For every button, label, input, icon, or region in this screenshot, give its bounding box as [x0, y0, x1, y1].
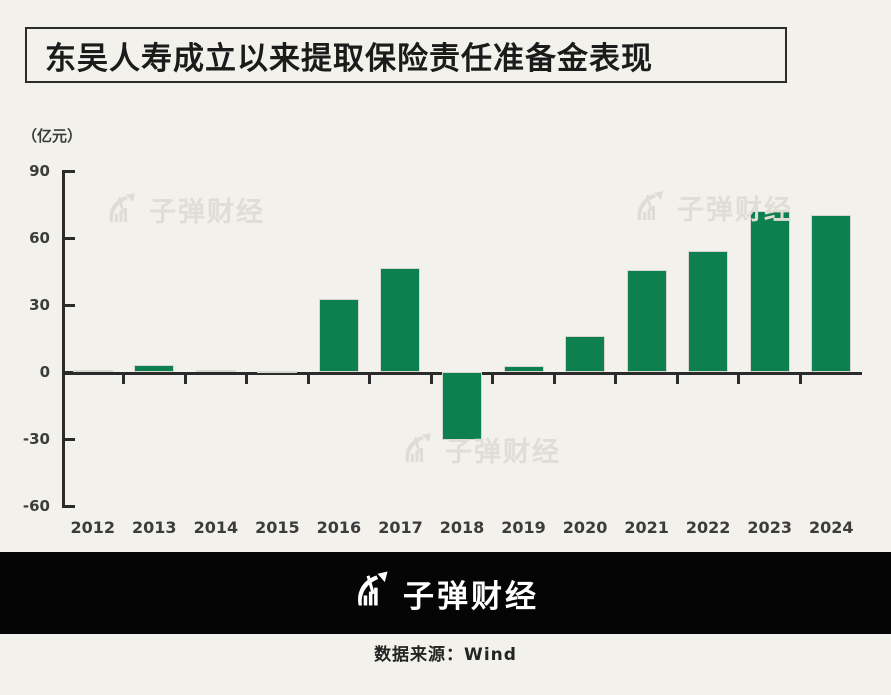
y-axis-tick-label: 0: [40, 363, 50, 381]
bar-2023: [750, 211, 790, 372]
bar-2015: [257, 371, 297, 373]
x-axis-label-2018: 2018: [440, 518, 485, 537]
y-axis-tick-label: -30: [23, 430, 50, 448]
bullet-logo-icon: [352, 571, 392, 616]
page-title: 东吴人寿成立以来提取保险责任准备金表现: [27, 33, 653, 78]
bar-2021: [627, 270, 667, 372]
bar-2022: [688, 251, 728, 372]
x-axis-label-2014: 2014: [194, 518, 239, 537]
x-axis-label-2021: 2021: [624, 518, 669, 537]
x-axis-labels: 2012201320142015201620172018201920202021…: [62, 518, 862, 542]
page-title-box: 东吴人寿成立以来提取保险责任准备金表现: [25, 27, 787, 83]
footer-brand: 子弹财经: [0, 552, 891, 634]
footer-brand-text: 子弹财经: [403, 571, 539, 616]
x-axis-label-2024: 2024: [809, 518, 854, 537]
chart-page: 东吴人寿成立以来提取保险责任准备金表现 （亿元） 9060300-30-60 2…: [0, 0, 891, 695]
x-axis-label-2012: 2012: [71, 518, 116, 537]
y-axis-tick-label: -60: [23, 497, 50, 515]
x-axis-label-2022: 2022: [686, 518, 731, 537]
x-axis-label-2019: 2019: [501, 518, 546, 537]
x-axis-label-2015: 2015: [255, 518, 300, 537]
bar-2016: [319, 299, 359, 372]
x-axis-label-2013: 2013: [132, 518, 177, 537]
bar-2014: [196, 370, 236, 372]
y-axis-tick-label: 60: [29, 229, 50, 247]
plot-area: [62, 171, 862, 506]
x-axis-label-2016: 2016: [317, 518, 362, 537]
y-axis-tick-label: 90: [29, 162, 50, 180]
y-axis-unit-label: （亿元）: [22, 125, 82, 146]
x-axis-label-2017: 2017: [378, 518, 423, 537]
bar-2018: [442, 372, 482, 440]
bar-2019: [504, 366, 544, 372]
x-axis-label-2020: 2020: [563, 518, 608, 537]
bar-2020: [565, 336, 605, 372]
x-axis-label-2023: 2023: [747, 518, 792, 537]
bar-2017: [380, 268, 420, 372]
y-axis-tick-label: 30: [29, 296, 50, 314]
bar-2013: [134, 365, 174, 372]
bar-2012: [73, 370, 113, 372]
data-source-note: 数据来源：Wind: [0, 640, 891, 665]
bar-series: [62, 171, 862, 506]
y-axis-labels: 9060300-30-60: [0, 171, 50, 506]
bar-2024: [811, 215, 851, 372]
